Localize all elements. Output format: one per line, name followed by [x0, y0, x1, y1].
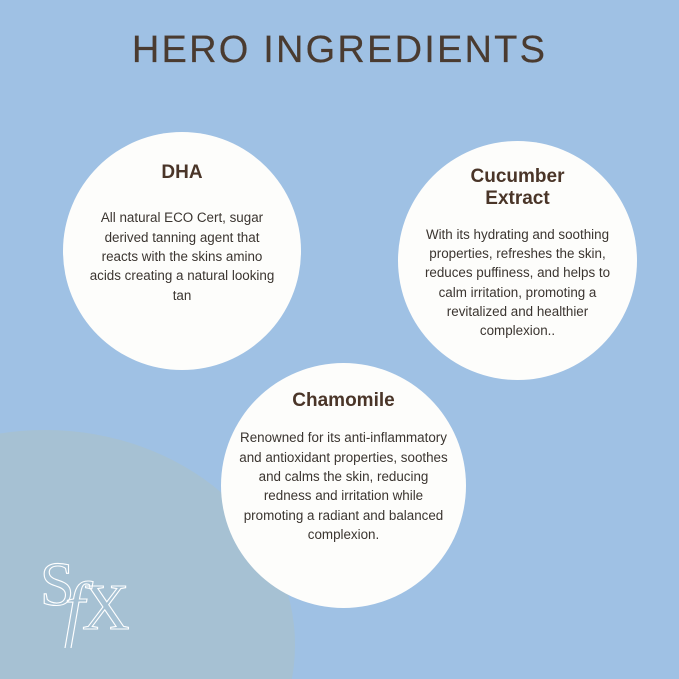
- ingredient-card-cucumber-extract: Cucumber Extract With its hydrating and …: [398, 141, 637, 380]
- ingredient-card-chamomile: Chamomile Renowned for its anti-inflamma…: [221, 363, 466, 608]
- ingredient-title-chamomile: Chamomile: [292, 390, 394, 412]
- poster-canvas: HERO INGREDIENTS DHA All natural ECO Cer…: [0, 0, 679, 679]
- ingredient-title-cucumber-extract: Cucumber Extract: [443, 166, 593, 211]
- ingredient-title-dha: DHA: [161, 162, 202, 184]
- ingredient-description-chamomile: Renowned for its anti-inflammatory and a…: [238, 428, 450, 544]
- page-title: HERO INGREDIENTS: [0, 29, 679, 72]
- ingredient-description-dha: All natural ECO Cert, sugar derived tann…: [89, 208, 275, 304]
- brand-logo-sfx: S f X: [38, 553, 148, 648]
- ingredient-card-dha: DHA All natural ECO Cert, sugar derived …: [63, 132, 301, 370]
- logo-letter-x: X: [82, 571, 130, 644]
- sfx-monogram-icon: S f X: [38, 553, 148, 648]
- ingredient-description-cucumber-extract: With its hydrating and soothing properti…: [416, 225, 620, 341]
